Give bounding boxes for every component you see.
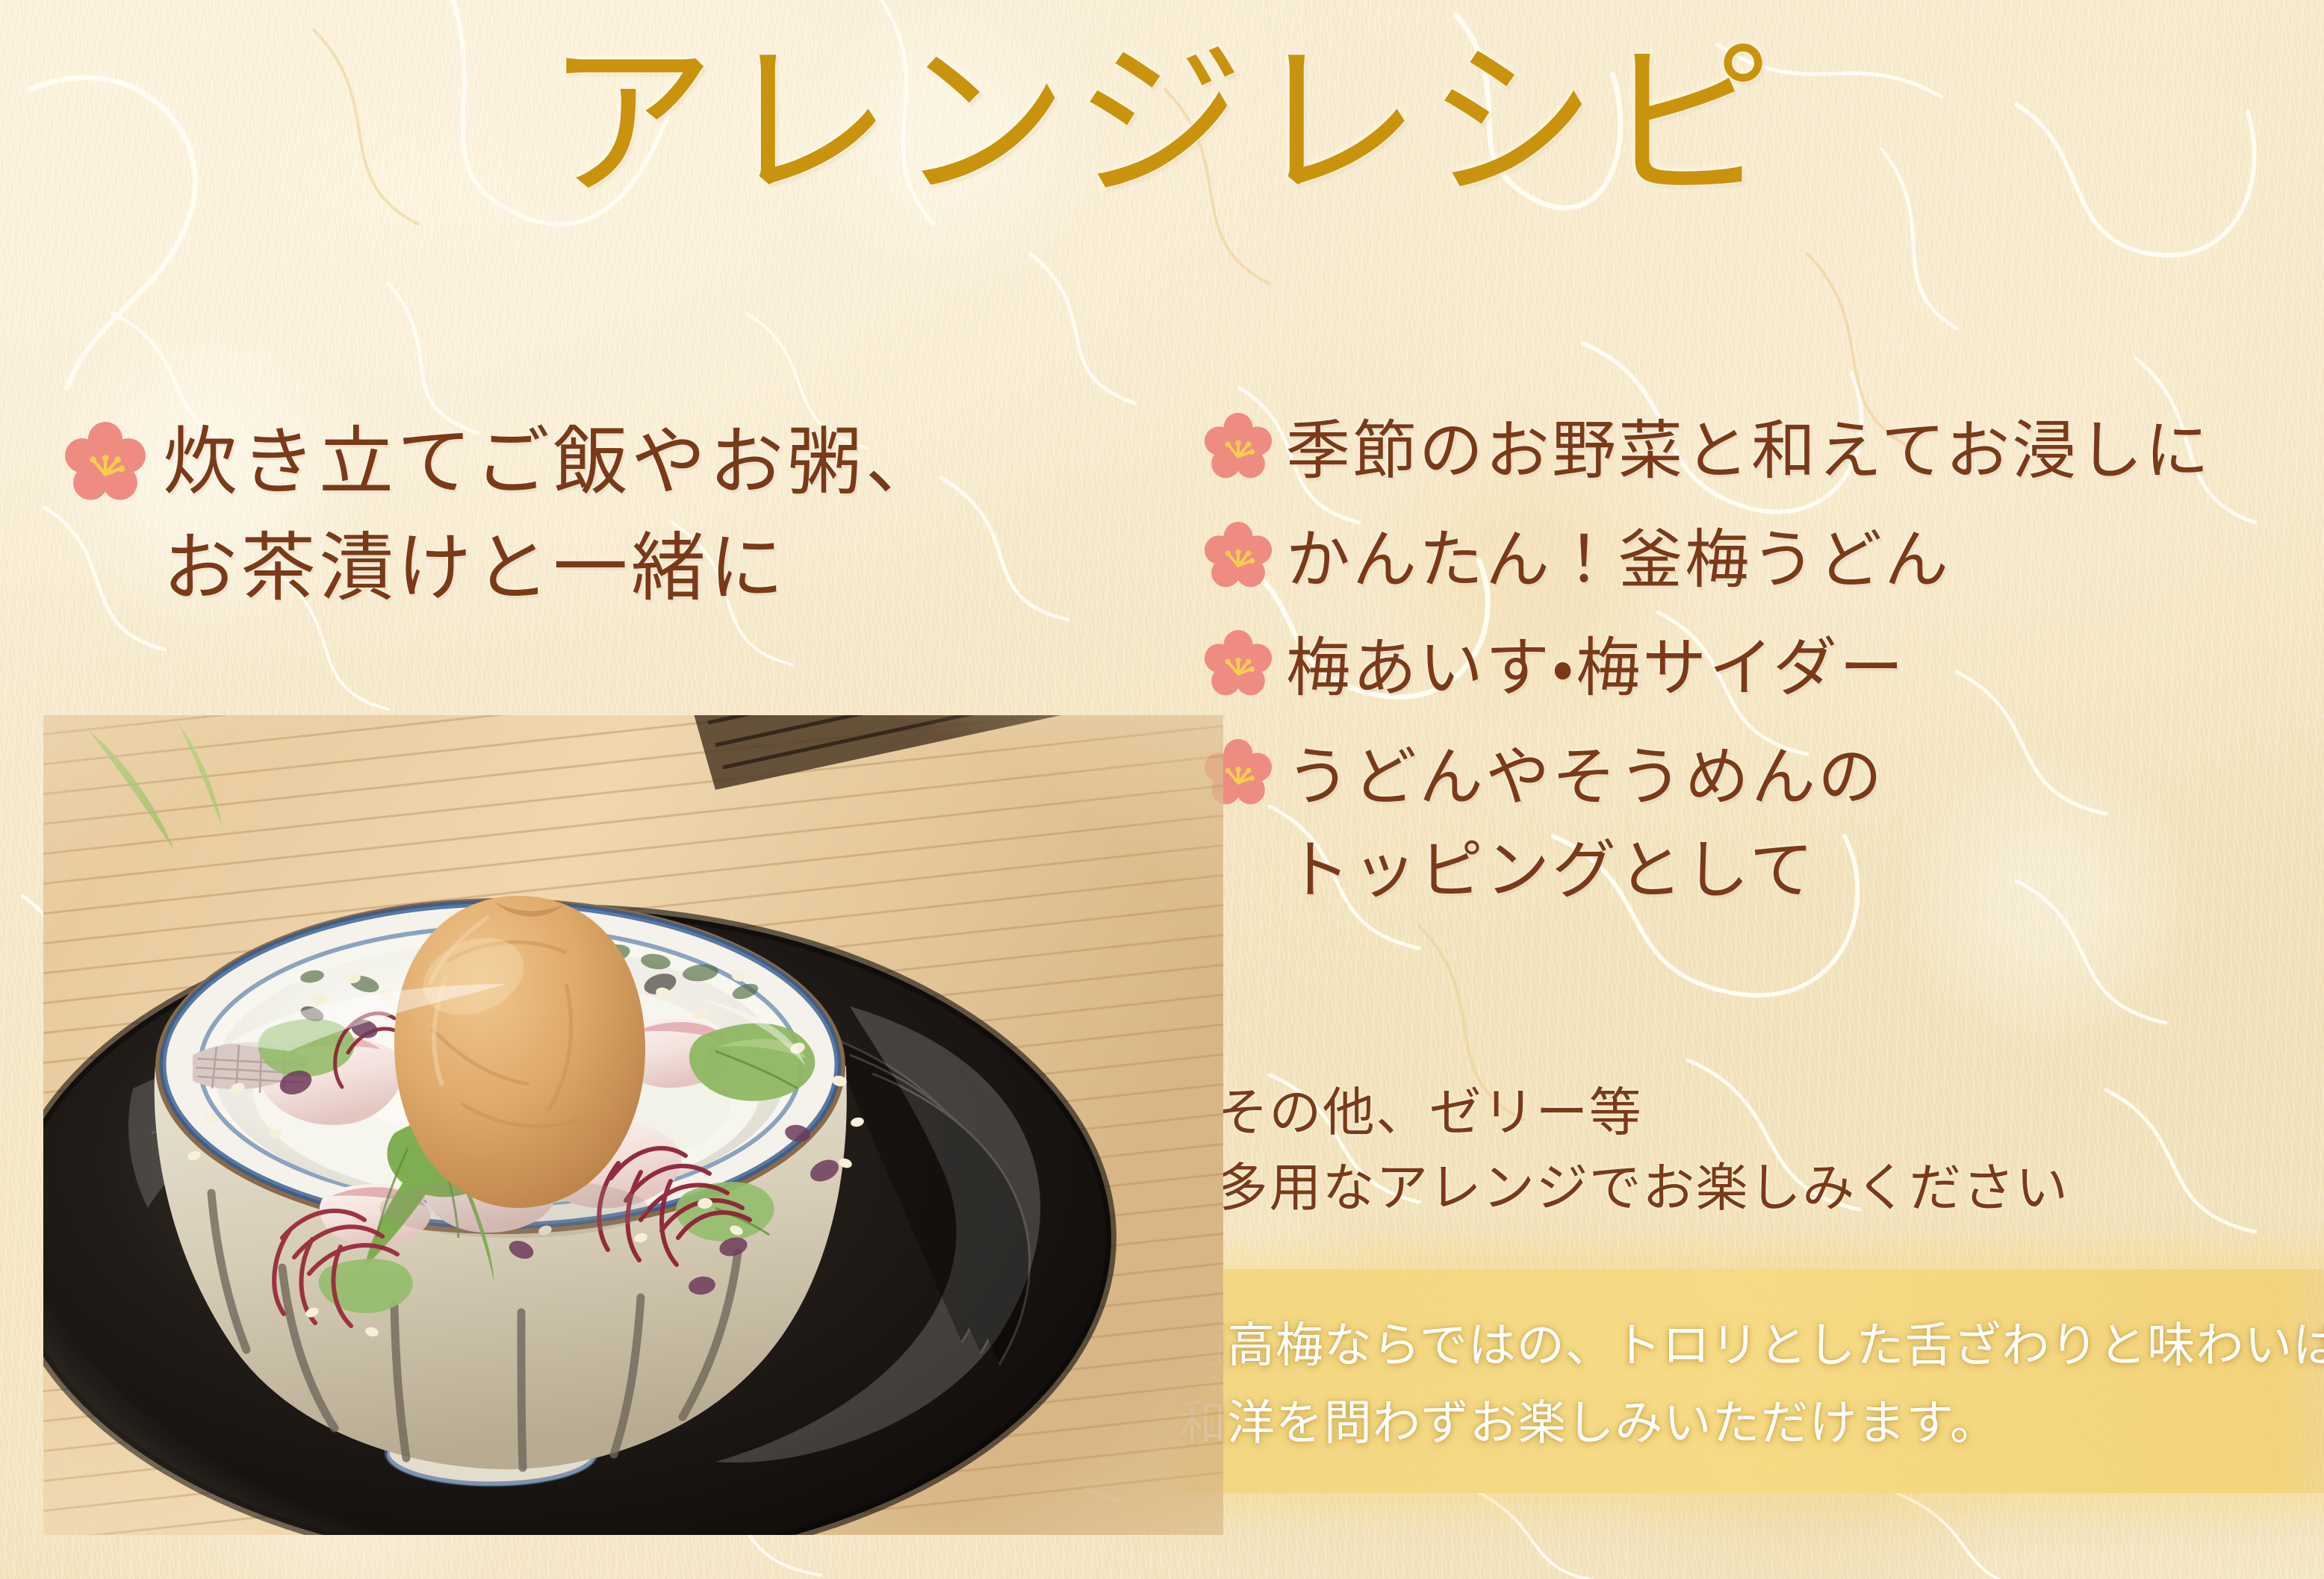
left-intro-line-2: お茶漬けと一緒に — [163, 515, 943, 621]
plum-blossom-icon — [1204, 405, 1273, 481]
page-title: アレンジレシピ — [0, 36, 2324, 210]
list-item-text: かんたん！釜梅うどん — [1286, 514, 1951, 608]
list-item-text: 季節のお野菜と和えてお浸しに — [1286, 405, 2211, 499]
additional-note: その他、ゼリー等 多用なアレンジでお楽しみください — [1216, 1075, 2069, 1226]
left-intro-line-1: 炊き立てご飯やお粥、 — [163, 409, 943, 515]
list-item-text: うどんやそうめんの トッピングとして — [1286, 731, 1884, 918]
food-photo-image — [43, 715, 1223, 1535]
recipe-idea-list: 季節のお野菜と和えてお浸しに かんたん！釜梅うどん — [1204, 405, 2324, 930]
plum-blossom-icon — [64, 409, 146, 503]
list-item: 梅あいす・梅サイダー — [1204, 622, 2324, 716]
list-item-line: 季節のお野菜と和えてお浸しに — [1286, 405, 2211, 499]
plum-blossom-icon — [1204, 514, 1273, 590]
left-intro-block: 炊き立てご飯やお粥、 お茶漬けと一緒に — [64, 409, 943, 621]
left-intro-text: 炊き立てご飯やお粥、 お茶漬けと一緒に — [163, 409, 943, 621]
list-item: かんたん！釜梅うどん — [1204, 514, 2324, 608]
highlight-band-line-2: 和洋を問わずお楽しみいただけます。 — [1178, 1386, 2324, 1463]
food-photo — [43, 715, 1223, 1535]
list-item-line: 梅あいす・梅サイダー — [1286, 622, 1906, 716]
poster-canvas: アレンジレシピ — [0, 0, 2324, 1579]
additional-note-line-1: その他、ゼリー等 — [1216, 1075, 2069, 1150]
list-item-text: 梅あいす・梅サイダー — [1286, 622, 1906, 716]
list-item-line: トッピングとして — [1286, 824, 1884, 918]
list-item-line: うどんやそうめんの — [1286, 731, 1884, 825]
highlight-band-line-1: 南高梅ならではの、トロリとした舌ざわりと味わいは — [1178, 1308, 2324, 1386]
list-item: うどんやそうめんの トッピングとして — [1204, 731, 2324, 918]
plum-blossom-icon — [1204, 622, 1273, 698]
highlight-band-text: 南高梅ならではの、トロリとした舌ざわりと味わいは 和洋を問わずお楽しみいただけま… — [1178, 1308, 2324, 1463]
list-item-line: かんたん！釜梅うどん — [1286, 514, 1951, 608]
additional-note-line-2: 多用なアレンジでお楽しみください — [1216, 1150, 2069, 1226]
list-item: 季節のお野菜と和えてお浸しに — [1204, 405, 2324, 499]
